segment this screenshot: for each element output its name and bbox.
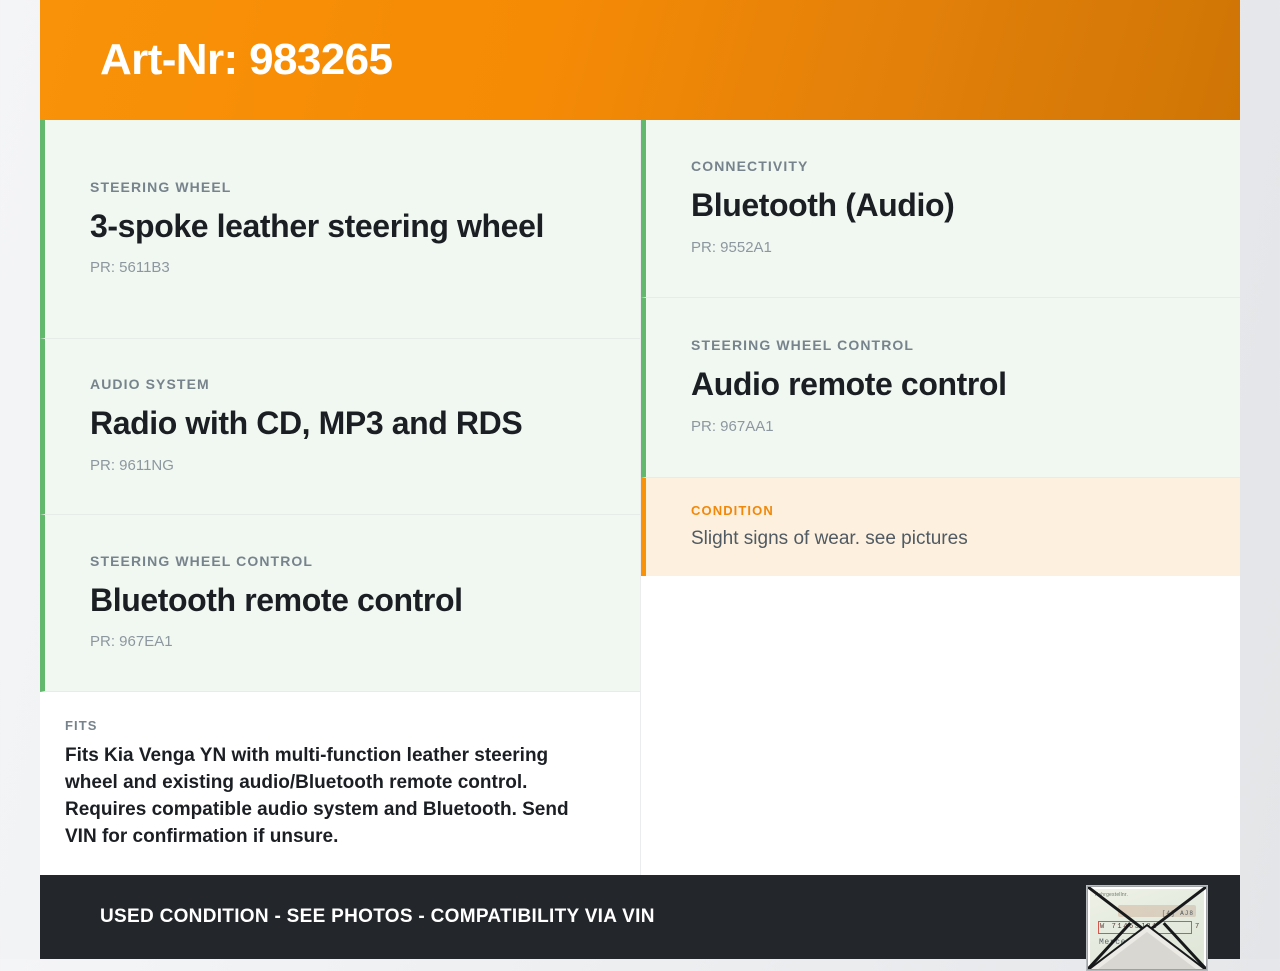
spec-pr-code: PR: 9611NG	[90, 457, 595, 475]
right-column-filler	[641, 576, 1240, 875]
spec-value: 3-spoke leather steering wheel	[90, 205, 595, 247]
spec-label: CONNECTIVITY	[691, 158, 1195, 174]
fits-label: FITS	[65, 718, 595, 733]
spec-label: STEERING WHEEL	[90, 179, 595, 195]
spec-value: Radio with CD, MP3 and RDS	[90, 402, 595, 444]
spec-pr-code: PR: 967EA1	[90, 633, 595, 651]
spec-pr-code: PR: 967AA1	[691, 418, 1195, 436]
fits-text: Fits Kia Venga YN with multi-function le…	[65, 743, 595, 851]
condition-card[interactable]: CONDITION Slight signs of wear. see pict…	[641, 478, 1240, 576]
vin-text: W 71463J31	[1100, 923, 1158, 931]
spec-value: Audio remote control	[691, 363, 1195, 405]
spec-label: STEERING WHEEL CONTROL	[90, 553, 595, 569]
spec-label: STEERING WHEEL CONTROL	[691, 337, 1195, 353]
vin-text-tail: 7	[1195, 923, 1199, 931]
condition-text: Slight signs of wear. see pictures	[691, 527, 1195, 551]
spec-value: Bluetooth remote control	[90, 579, 595, 621]
page-title: Art-Nr: 983265	[40, 38, 392, 82]
document-code: [4] AJ8	[1162, 910, 1194, 917]
document-field-label: Fahrgestellnr.	[1095, 892, 1128, 898]
header-bar: Art-Nr: 983265	[40, 0, 1240, 120]
spec-card[interactable]: STEERING WHEEL CONTROL Bluetooth remote …	[40, 515, 640, 692]
spec-columns: STEERING WHEEL 3-spoke leather steering …	[40, 120, 1240, 875]
spec-card[interactable]: AUDIO SYSTEM Radio with CD, MP3 and RDS …	[40, 339, 640, 516]
spec-card[interactable]: STEERING WHEEL 3-spoke leather steering …	[40, 120, 640, 339]
spec-pr-code: PR: 5611B3	[90, 259, 595, 277]
product-spec-card: Art-Nr: 983265 STEERING WHEEL 3-spoke le…	[40, 0, 1240, 959]
spec-card[interactable]: STEERING WHEEL CONTROL Audio remote cont…	[641, 298, 1240, 478]
spec-value: Bluetooth (Audio)	[691, 184, 1195, 226]
spec-pr-code: PR: 9552A1	[691, 239, 1195, 257]
left-column: STEERING WHEEL 3-spoke leather steering …	[40, 120, 640, 875]
footer-notice: USED CONDITION - SEE PHOTOS - COMPATIBIL…	[40, 906, 655, 928]
condition-label: CONDITION	[691, 503, 1195, 518]
fits-section: FITS Fits Kia Venga YN with multi-functi…	[40, 692, 640, 875]
registration-document-thumbnail: Fahrgestellnr. [4] AJ8 W 71463J31 7 Merc…	[1090, 889, 1204, 967]
spec-card[interactable]: CONNECTIVITY Bluetooth (Audio) PR: 9552A…	[641, 120, 1240, 298]
footer-bar: USED CONDITION - SEE PHOTOS - COMPATIBIL…	[40, 875, 1240, 959]
spec-label: AUDIO SYSTEM	[90, 376, 595, 392]
vehicle-brand-text: Mercedes-Benz	[1099, 938, 1169, 947]
envelope-icon[interactable]: Fahrgestellnr. [4] AJ8 W 71463J31 7 Merc…	[1086, 885, 1208, 971]
right-column: CONNECTIVITY Bluetooth (Audio) PR: 9552A…	[640, 120, 1240, 875]
